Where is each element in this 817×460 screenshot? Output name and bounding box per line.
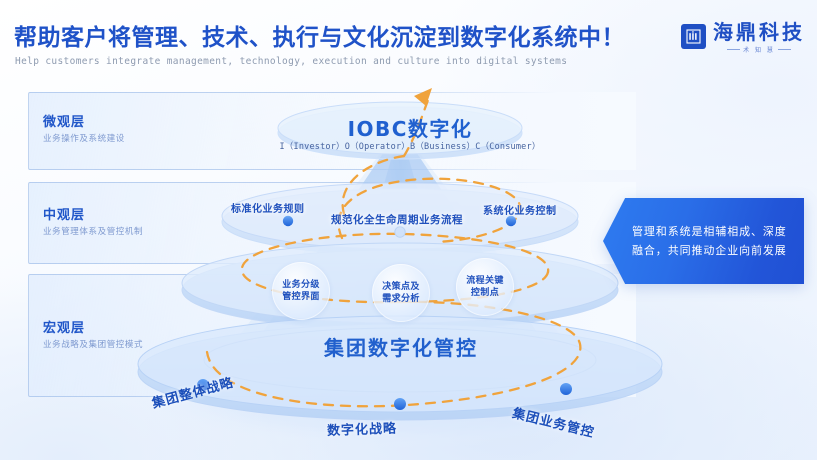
page-subtitle: Help customers integrate management, tec… <box>15 56 567 67</box>
hd-logo-icon <box>681 24 706 49</box>
pyramid-top-title: IOBC数字化 <box>300 113 520 142</box>
logo-dash-right <box>778 49 791 50</box>
logo-tagline: 术 知 慧 <box>743 45 775 54</box>
bubble-1-line1: 业务分级 <box>282 280 320 290</box>
slide-header: 帮助客户将管理、技术、执行与文化沉淀到数字化系统中！ Help customer… <box>0 0 817 88</box>
logo-text: 海鼎科技 术 知 慧 <box>713 22 805 54</box>
company-logo: 海鼎科技 术 知 慧 <box>681 22 805 62</box>
layer-desc-meso: 业务管理体系及管控机制 <box>43 227 143 238</box>
callout-banner: 管理和系统是相辅相成、深度 融合，共同推动企业向前发展 <box>603 198 804 284</box>
layer-title-micro: 微观层 <box>43 115 125 131</box>
layer-text-macro: 宏观层 业务战略及集团管控模式 <box>43 321 143 351</box>
bubble-business-tier-control: 业务分级 管控界面 <box>272 262 330 320</box>
callout-line-1: 管理和系统是相辅相成、深度 <box>632 222 793 241</box>
tier2-label-system-control: 系统化业务控制 <box>483 202 557 217</box>
bubble-3-line1: 流程关键 <box>466 276 504 286</box>
base-label-business-control: 集团业务管控 <box>511 402 597 441</box>
layer-desc-micro: 业务操作及系统建设 <box>43 134 125 145</box>
logo-company-name: 海鼎科技 <box>713 22 805 42</box>
pyramid-top-subtitle: I（Investor）O（Operator）B（Business）C（Consu… <box>248 140 572 152</box>
base-label-digital-strategy: 数字化战略 <box>327 418 398 439</box>
bubble-decision-demand-analysis: 决策点及 需求分析 <box>372 264 430 322</box>
pyramid-mid-title: 集团数字化管控 <box>283 332 519 361</box>
bubble-2-line2: 需求分析 <box>382 294 420 304</box>
logo-dash-left <box>727 49 740 50</box>
bubble-3-line2: 控制点 <box>471 288 499 298</box>
tier2-label-lifecycle-process: 规范化全生命周期业务流程 <box>331 212 463 227</box>
layer-title-macro: 宏观层 <box>43 321 143 337</box>
bubble-process-key-control: 流程关键 控制点 <box>456 258 514 316</box>
callout-line-2: 融合，共同推动企业向前发展 <box>632 241 793 260</box>
logo-tagline-row: 术 知 慧 <box>727 45 791 54</box>
tier2-label-standard-rules: 标准化业务规则 <box>231 200 305 215</box>
layer-desc-macro: 业务战略及集团管控模式 <box>43 340 143 351</box>
slide-root: 帮助客户将管理、技术、执行与文化沉淀到数字化系统中！ Help customer… <box>0 0 817 460</box>
layer-text-meso: 中观层 业务管理体系及管控机制 <box>43 208 143 238</box>
callout-text: 管理和系统是相辅相成、深度 融合，共同推动企业向前发展 <box>632 198 793 284</box>
page-title: 帮助客户将管理、技术、执行与文化沉淀到数字化系统中！ <box>14 18 625 52</box>
bubble-2-line1: 决策点及 <box>382 282 420 292</box>
bubble-1-line2: 管控界面 <box>282 292 320 302</box>
layer-text-micro: 微观层 业务操作及系统建设 <box>43 115 125 145</box>
layer-title-meso: 中观层 <box>43 208 143 224</box>
